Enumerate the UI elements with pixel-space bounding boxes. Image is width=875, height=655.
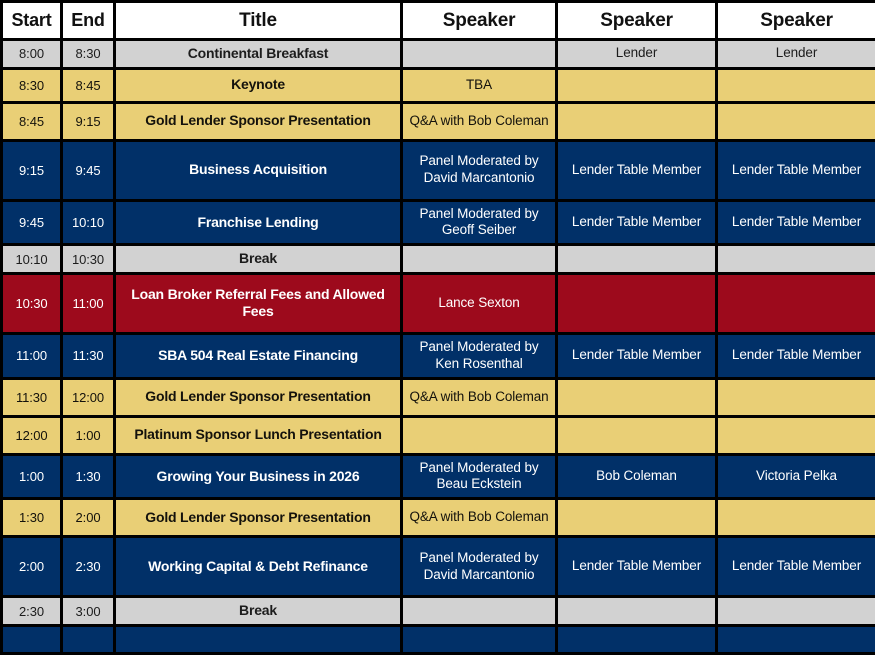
cell-end-time: 2:00 [62, 499, 115, 537]
cell-speaker-1: Panel Moderated by Ken Rosenthal [402, 333, 557, 378]
cell-end-time: 8:30 [62, 40, 115, 69]
cell-session-title: Loan Broker Referral Fees and Allowed Fe… [115, 273, 402, 333]
conference-schedule-table: Start End Title Speaker Speaker Speaker … [0, 0, 875, 655]
cell-speaker-2: Lender Table Member [557, 333, 717, 378]
table-row: 1:001:30Growing Your Business in 2026Pan… [2, 454, 875, 499]
cell-speaker-3 [717, 597, 875, 626]
cell-session-title: Gold Lender Sponsor Presentation [115, 499, 402, 537]
cell-speaker-1 [402, 245, 557, 274]
cell-session-title: Franchise Lending [115, 200, 402, 245]
cell-start-time: 8:30 [2, 68, 62, 102]
cell-speaker-1: TBA [402, 68, 557, 102]
column-header-speaker-2: Speaker [557, 2, 717, 40]
cell-speaker-2: Lender Table Member [557, 537, 717, 597]
cell-speaker-2 [557, 499, 717, 537]
cell-speaker-1 [402, 597, 557, 626]
cell-start-time: 9:45 [2, 200, 62, 245]
cell-speaker-3 [717, 245, 875, 274]
cell-session-title: Break [115, 245, 402, 274]
table-row: 1:302:00Gold Lender Sponsor Presentation… [2, 499, 875, 537]
cell-speaker-3: Lender Table Member [717, 537, 875, 597]
cell-end-time: 3:00 [62, 597, 115, 626]
cell-speaker-3 [717, 68, 875, 102]
table-row: 2:002:30Working Capital & Debt Refinance… [2, 537, 875, 597]
table-body: 8:008:30Continental BreakfastLenderLende… [2, 40, 875, 654]
cell-session-title: Business Acquisition [115, 140, 402, 200]
cell-speaker-1: Panel Moderated by Beau Eckstein [402, 454, 557, 499]
cell-speaker-1: Panel Moderated by Geoff Seiber [402, 200, 557, 245]
cell-session-title: Platinum Sponsor Lunch Presentation [115, 416, 402, 454]
cell-session-title: Continental Breakfast [115, 40, 402, 69]
cell-speaker-1: Q&A with Bob Coleman [402, 102, 557, 140]
cell-speaker-2: Lender Table Member [557, 200, 717, 245]
cell-end-time: 9:45 [62, 140, 115, 200]
cell-start-time: 2:00 [2, 537, 62, 597]
table-row: 8:308:45KeynoteTBA [2, 68, 875, 102]
column-header-title: Title [115, 2, 402, 40]
cell-end-time: 11:00 [62, 273, 115, 333]
cell-session-title: Working Capital & Debt Refinance [115, 537, 402, 597]
cell-end-time: 2:30 [62, 537, 115, 597]
cell-speaker-2 [557, 273, 717, 333]
cell-speaker-3 [717, 378, 875, 416]
table-row: 10:1010:30Break [2, 245, 875, 274]
cell-end-time: 10:30 [62, 245, 115, 274]
cell-speaker-2 [557, 102, 717, 140]
cell-session-title: Gold Lender Sponsor Presentation [115, 378, 402, 416]
cell-speaker-1: Panel Moderated by David Marcantonio [402, 537, 557, 597]
column-header-speaker-3: Speaker [717, 2, 875, 40]
cell-speaker-3: Lender Table Member [717, 140, 875, 200]
header-row: Start End Title Speaker Speaker Speaker [2, 2, 875, 40]
cell-speaker-2: Lender [557, 40, 717, 69]
cell-speaker-3: Lender Table Member [717, 333, 875, 378]
column-header-speaker-1: Speaker [402, 2, 557, 40]
cell-end-time: 12:00 [62, 378, 115, 416]
cell-speaker-1: Q&A with Bob Coleman [402, 378, 557, 416]
table-row: 9:159:45Business AcquisitionPanel Modera… [2, 140, 875, 200]
cell-end-time: 10:10 [62, 200, 115, 245]
cell-speaker-1: Lance Sexton [402, 273, 557, 333]
cell-start-time: 11:30 [2, 378, 62, 416]
cell-speaker-2 [557, 597, 717, 626]
cell-speaker-2 [557, 625, 717, 653]
cell-speaker-3: Victoria Pelka [717, 454, 875, 499]
cell-speaker-2 [557, 378, 717, 416]
table-row [2, 625, 875, 653]
cell-speaker-1: Panel Moderated by David Marcantonio [402, 140, 557, 200]
cell-speaker-1 [402, 416, 557, 454]
cell-speaker-2 [557, 245, 717, 274]
cell-start-time: 10:30 [2, 273, 62, 333]
cell-speaker-1 [402, 40, 557, 69]
cell-session-title: Keynote [115, 68, 402, 102]
cell-end-time: 1:30 [62, 454, 115, 499]
table-row: 12:001:00Platinum Sponsor Lunch Presenta… [2, 416, 875, 454]
cell-speaker-1 [402, 625, 557, 653]
table-row: 8:008:30Continental BreakfastLenderLende… [2, 40, 875, 69]
table-row: 11:3012:00Gold Lender Sponsor Presentati… [2, 378, 875, 416]
cell-start-time [2, 625, 62, 653]
table-row: 11:0011:30SBA 504 Real Estate FinancingP… [2, 333, 875, 378]
cell-end-time: 8:45 [62, 68, 115, 102]
cell-speaker-3 [717, 625, 875, 653]
cell-speaker-2 [557, 416, 717, 454]
column-header-end: End [62, 2, 115, 40]
table-row: 8:459:15Gold Lender Sponsor Presentation… [2, 102, 875, 140]
cell-speaker-3 [717, 499, 875, 537]
cell-end-time: 9:15 [62, 102, 115, 140]
cell-session-title: Gold Lender Sponsor Presentation [115, 102, 402, 140]
cell-start-time: 12:00 [2, 416, 62, 454]
cell-start-time: 8:00 [2, 40, 62, 69]
cell-speaker-2 [557, 68, 717, 102]
cell-start-time: 2:30 [2, 597, 62, 626]
cell-speaker-2: Lender Table Member [557, 140, 717, 200]
table-header: Start End Title Speaker Speaker Speaker [2, 2, 875, 40]
cell-start-time: 1:00 [2, 454, 62, 499]
cell-speaker-3: Lender Table Member [717, 200, 875, 245]
cell-end-time [62, 625, 115, 653]
table-row: 10:3011:00Loan Broker Referral Fees and … [2, 273, 875, 333]
cell-start-time: 10:10 [2, 245, 62, 274]
cell-start-time: 11:00 [2, 333, 62, 378]
cell-session-title: Break [115, 597, 402, 626]
cell-start-time: 1:30 [2, 499, 62, 537]
cell-speaker-3 [717, 102, 875, 140]
cell-session-title: SBA 504 Real Estate Financing [115, 333, 402, 378]
cell-session-title: Growing Your Business in 2026 [115, 454, 402, 499]
cell-speaker-2: Bob Coleman [557, 454, 717, 499]
cell-start-time: 9:15 [2, 140, 62, 200]
cell-speaker-3: Lender [717, 40, 875, 69]
cell-end-time: 11:30 [62, 333, 115, 378]
cell-session-title [115, 625, 402, 653]
cell-speaker-3 [717, 416, 875, 454]
table-row: 2:303:00Break [2, 597, 875, 626]
cell-speaker-1: Q&A with Bob Coleman [402, 499, 557, 537]
cell-speaker-3 [717, 273, 875, 333]
column-header-start: Start [2, 2, 62, 40]
cell-end-time: 1:00 [62, 416, 115, 454]
table-row: 9:4510:10Franchise LendingPanel Moderate… [2, 200, 875, 245]
cell-start-time: 8:45 [2, 102, 62, 140]
